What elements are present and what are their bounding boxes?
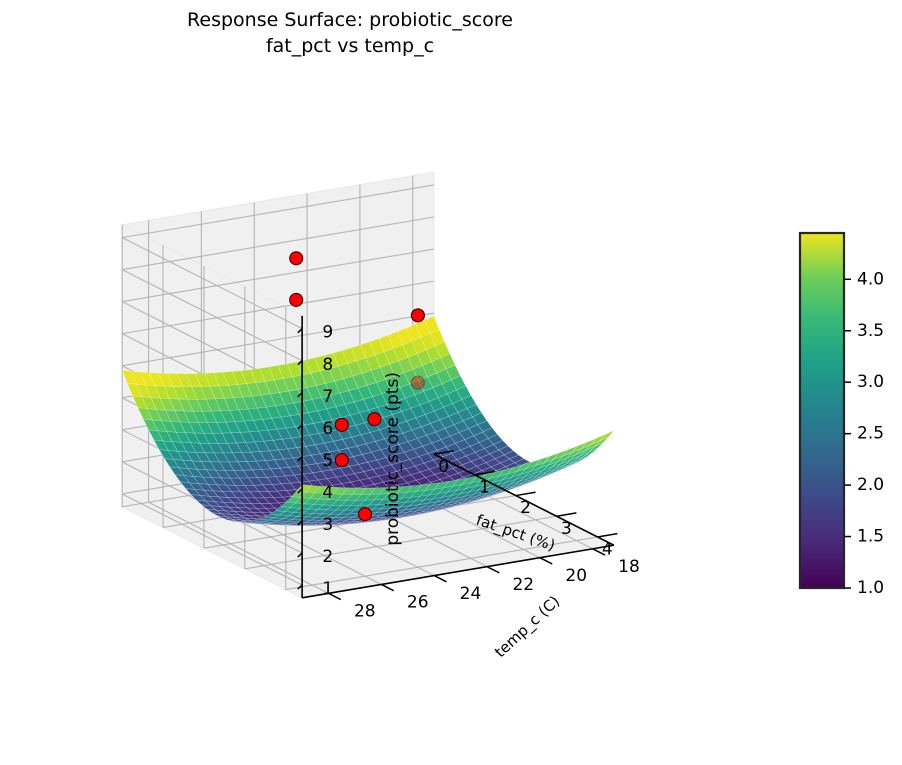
- tick-label: 2: [520, 498, 531, 518]
- scatter-point: [411, 376, 424, 389]
- tick-label: 26: [407, 593, 429, 613]
- z-axis-label: probiotic_score (pts): [383, 372, 403, 546]
- tick-label: 5: [322, 451, 333, 471]
- scatter-point: [411, 309, 424, 322]
- scatter-point: [368, 413, 381, 426]
- scatter-point: [335, 454, 348, 467]
- tick-label: 1: [479, 478, 490, 498]
- scatter-point: [359, 508, 372, 521]
- tick-label: 9: [322, 323, 333, 343]
- figure-canvas: Response Surface: probiotic_score fat_pc…: [0, 0, 902, 765]
- tick-label: 3: [561, 519, 572, 539]
- tick-label: 7: [322, 387, 333, 407]
- colorbar-gradient: [800, 233, 844, 588]
- y-axis-label: temp_c (C): [491, 592, 564, 662]
- tick-label: 6: [322, 419, 333, 439]
- tick-label: 1: [322, 579, 333, 599]
- tick-label: 20: [565, 566, 587, 586]
- tick-label: 8: [322, 355, 333, 375]
- colorbar-tick-label: 3.5: [857, 321, 884, 341]
- scatter-point: [335, 418, 348, 431]
- tick-label: 3: [322, 515, 333, 535]
- colorbar-tick-label: 2.0: [857, 475, 884, 495]
- tick-label: 18: [618, 557, 640, 577]
- tick-label: 4: [602, 540, 613, 560]
- tick-label: 24: [460, 584, 482, 604]
- tick-label: 0: [438, 457, 449, 477]
- tick-label: 22: [512, 575, 534, 595]
- tick-label: 28: [354, 602, 376, 622]
- scatter-point: [290, 252, 303, 265]
- colorbar-tick-label: 4.0: [857, 269, 884, 289]
- surface-3d-plot: 01234182022242628123456789fat_pct (%)tem…: [0, 0, 902, 765]
- colorbar-tick-label: 3.0: [857, 372, 884, 392]
- colorbar-tick-label: 2.5: [857, 424, 884, 444]
- colorbar: 4.03.53.02.52.01.51.0: [800, 233, 884, 598]
- scatter-point: [290, 293, 303, 306]
- tick-label: 4: [322, 483, 333, 503]
- colorbar-tick-label: 1.5: [857, 527, 884, 547]
- tick-label: 2: [322, 547, 333, 567]
- colorbar-tick-label: 1.0: [857, 578, 884, 598]
